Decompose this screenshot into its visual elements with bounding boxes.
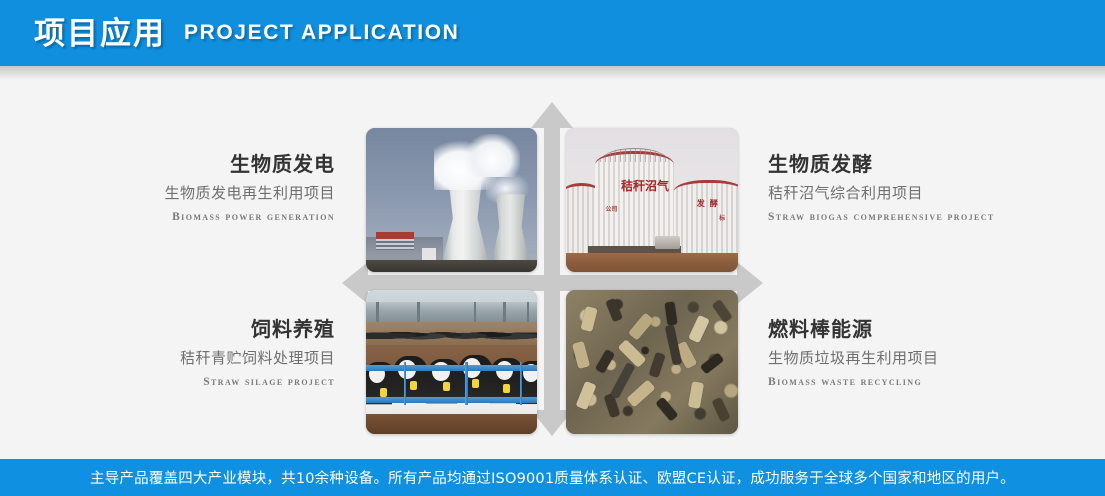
label-feed-breeding: 饲料养殖 秸秆青贮饲料处理项目 Straw silage project xyxy=(60,317,335,390)
quadrant-subtitle: 秸秆青贮饲料处理项目 xyxy=(60,349,335,368)
label-biomass-fermentation: 生物质发酵 秸秆沼气综合利用项目 Straw biogas comprehens… xyxy=(768,152,1068,225)
quadrant-subtitle: 生物质发电再生利用项目 xyxy=(60,184,335,203)
photo-biomass-power-generation xyxy=(366,128,537,272)
page-header: 项目应用 PROJECT APPLICATION xyxy=(0,0,1105,66)
quadrant-english: Straw biogas comprehensive project xyxy=(768,211,1068,225)
quadrant-title: 饲料养殖 xyxy=(60,317,335,342)
tank-seal-left: 公司 xyxy=(606,207,618,214)
tank-label-right: 发酵 xyxy=(697,200,723,209)
tank-seal-right: 标 xyxy=(719,216,725,223)
quadrant-subtitle: 生物质垃圾再生利用项目 xyxy=(768,349,1068,368)
quadrant-title: 生物质发酵 xyxy=(768,152,1068,177)
header-drop-shadow xyxy=(0,66,1105,80)
photo-feed-breeding xyxy=(366,290,537,434)
footer-text: 主导产品覆盖四大产业模块，共10余种设备。所有产品均通过ISO9001质量体系认… xyxy=(90,467,1015,488)
diagram-stage: 秸秆沼气 发酵 公司 标 xyxy=(0,66,1105,459)
page-title-en: PROJECT APPLICATION xyxy=(184,22,459,44)
photo-biomass-fermentation: 秸秆沼气 发酵 公司 标 xyxy=(566,128,738,272)
quadrant-title: 燃料棒能源 xyxy=(768,317,1068,342)
tank-label-main: 秸秆沼气 xyxy=(621,180,669,193)
quadrant-subtitle: 秸秆沼气综合利用项目 xyxy=(768,184,1068,203)
quadrant-english: Biomass power generation xyxy=(60,211,335,225)
label-fuel-rod-energy: 燃料棒能源 生物质垃圾再生利用项目 Biomass waste recyclin… xyxy=(768,317,1068,390)
quadrant-title: 生物质发电 xyxy=(60,152,335,177)
photo-fuel-rod-energy xyxy=(566,290,738,434)
page-footer: 主导产品覆盖四大产业模块，共10余种设备。所有产品均通过ISO9001质量体系认… xyxy=(0,459,1105,496)
label-biomass-power-generation: 生物质发电 生物质发电再生利用项目 Biomass power generati… xyxy=(60,152,335,225)
quadrant-english: Straw silage project xyxy=(60,376,335,390)
quadrant-english: Biomass waste recycling xyxy=(768,376,1068,390)
page-title-cn: 项目应用 xyxy=(34,18,166,49)
